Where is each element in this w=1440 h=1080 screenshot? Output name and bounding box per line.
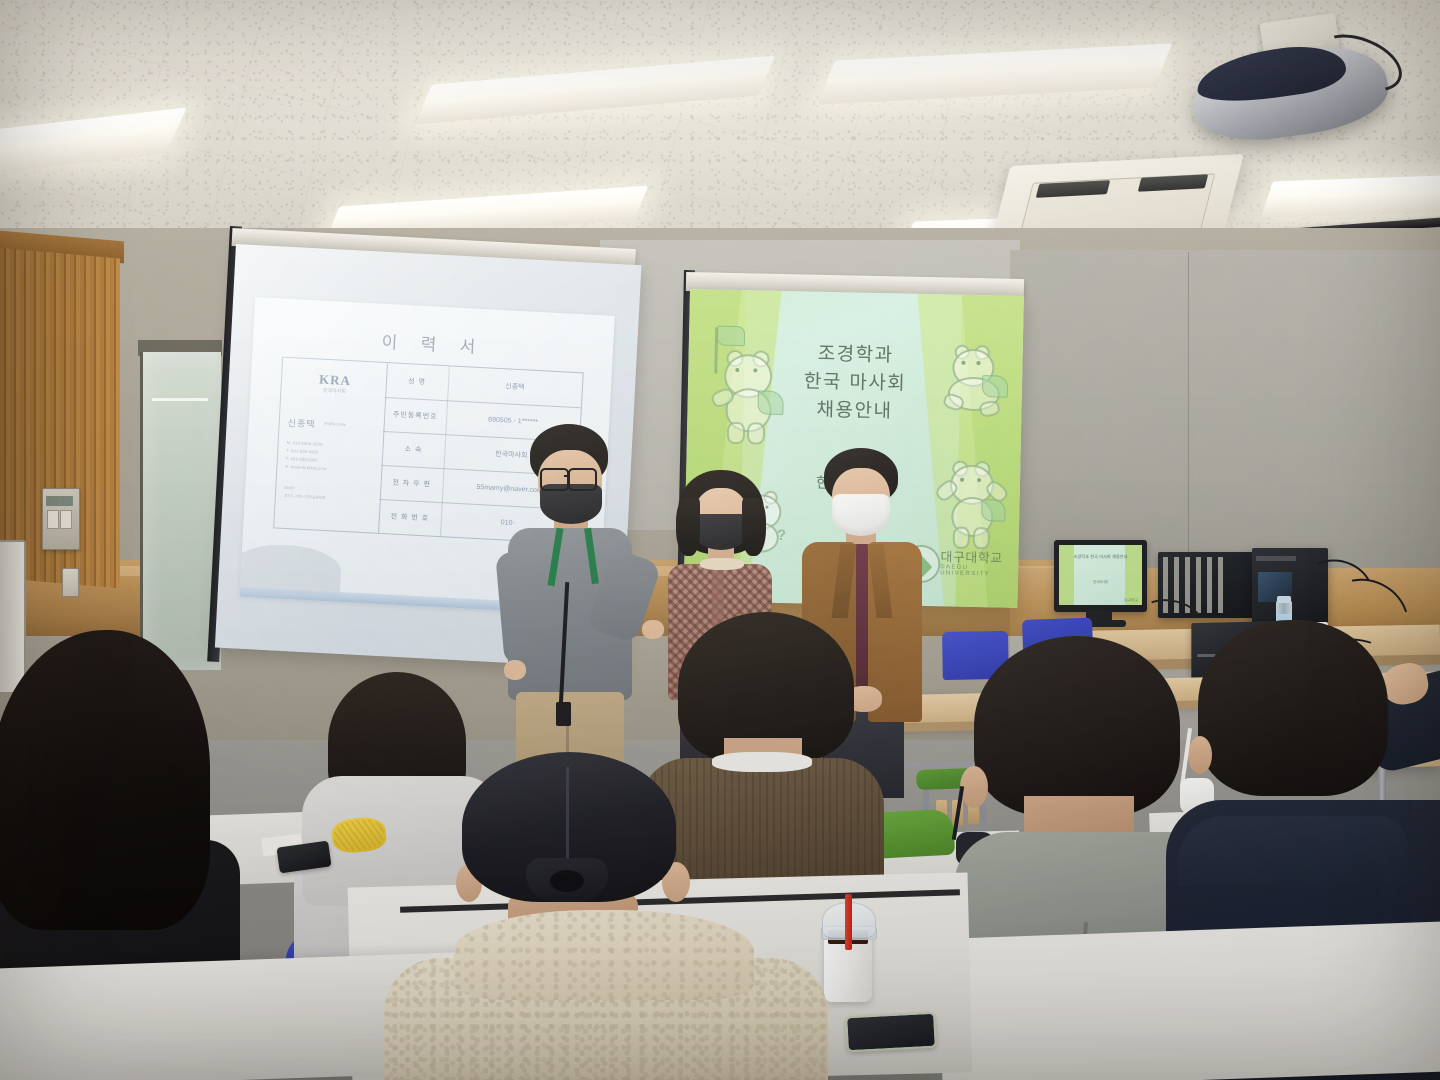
student-black-cap: [398, 752, 828, 1080]
water-bottle-cap: [1277, 596, 1291, 603]
cap-button: [558, 754, 575, 767]
recessed-fluorescent-light: [1261, 175, 1440, 218]
light-switch[interactable]: [62, 568, 79, 597]
monitor-slide-logo: 대구대학교: [1124, 598, 1138, 602]
slide-title-line-3: 채용안내: [816, 399, 892, 423]
student-ear: [960, 766, 988, 808]
presenter-hair-front: [676, 498, 700, 556]
wall-seam: [1188, 252, 1189, 568]
eyeglasses-bridge: [564, 475, 570, 477]
wall-panel-display: [46, 496, 73, 506]
student-hair: [0, 630, 210, 930]
wall-panel-button[interactable]: [47, 510, 59, 529]
classroom-scene: 이 력 서 KRA 한국마사회 신종택 (PARK) Shin M. 010-0…: [0, 0, 1440, 1080]
presenter-collar: [700, 558, 744, 570]
student-long-hair: [0, 630, 260, 1010]
right-slide-title: 조경학과 한국 마사회 채용안내: [687, 337, 1023, 428]
glass-door-highlight: [152, 398, 208, 401]
pc-drive-slot: [1256, 556, 1296, 561]
face-mask-icon: [832, 494, 890, 536]
student-hair: [1198, 620, 1388, 796]
face-mask-icon: [694, 514, 748, 550]
slide-title-line-1: 조경학과: [817, 343, 893, 367]
student-shoulder: [1178, 816, 1408, 886]
back-wall-right-panel: [1010, 250, 1440, 570]
eyeglasses-icon: [568, 468, 597, 491]
student-hair: [974, 636, 1180, 816]
university-name-en: DAEGU UNIVERSITY: [940, 564, 1006, 577]
drinking-straw: [845, 894, 852, 950]
monitor-slide-text: 조경학과 한국 마사회 채용안내: [1059, 554, 1142, 560]
smartphone[interactable]: [845, 1012, 937, 1053]
cap-strap-opening: [550, 870, 584, 892]
monitor-slide-subtitle: 한국마사회: [1059, 579, 1142, 584]
slide-title-line-2: 한국 마사회: [804, 371, 907, 395]
iced-coffee-cup[interactable]: [820, 900, 876, 1002]
eyeglasses-icon: [540, 468, 569, 491]
fleece-collar-texture: [454, 910, 754, 1000]
presenter-hair-front: [742, 498, 766, 556]
front-desk: [938, 921, 1440, 1080]
student-ear: [1188, 736, 1212, 774]
microphone-transmitter: [556, 702, 571, 726]
preview-monitor-screen: 조경학과 한국 마사회 채용안내 한국마사회 대구대학교: [1059, 545, 1142, 605]
wall-panel-button[interactable]: [60, 510, 72, 529]
